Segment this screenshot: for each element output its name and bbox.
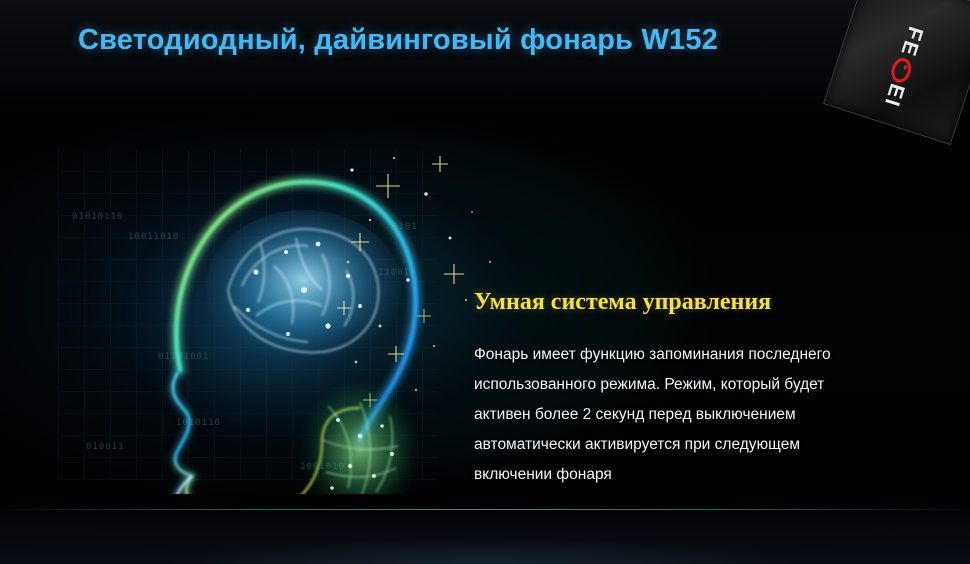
brand-logo-letters-after: EI	[879, 80, 909, 110]
feature-heading: Умная система управления	[474, 289, 771, 316]
feature-body-line: активен более 2 секунд перед выключением	[474, 400, 929, 430]
footer-divider	[0, 509, 970, 510]
brand-logo-oval-icon	[889, 56, 915, 86]
page-title: Светодиодный, дайвинговый фонарь W152	[78, 24, 718, 57]
footer-band	[0, 494, 970, 564]
feature-body-line: автоматически активируется при следующем	[474, 430, 929, 460]
feature-body-line: использованного режима. Режим, который б…	[474, 370, 929, 400]
feature-body-line: Фонарь имеет функцию запоминания последн…	[474, 340, 929, 370]
feature-body: Фонарь имеет функцию запоминания последн…	[474, 340, 929, 490]
feature-body-line: включении фонаря	[474, 460, 929, 490]
slide-root: 01010110 10011010 0101 110010 01101001 1…	[0, 0, 970, 564]
brand-logo-letters-before: FE	[895, 23, 927, 60]
